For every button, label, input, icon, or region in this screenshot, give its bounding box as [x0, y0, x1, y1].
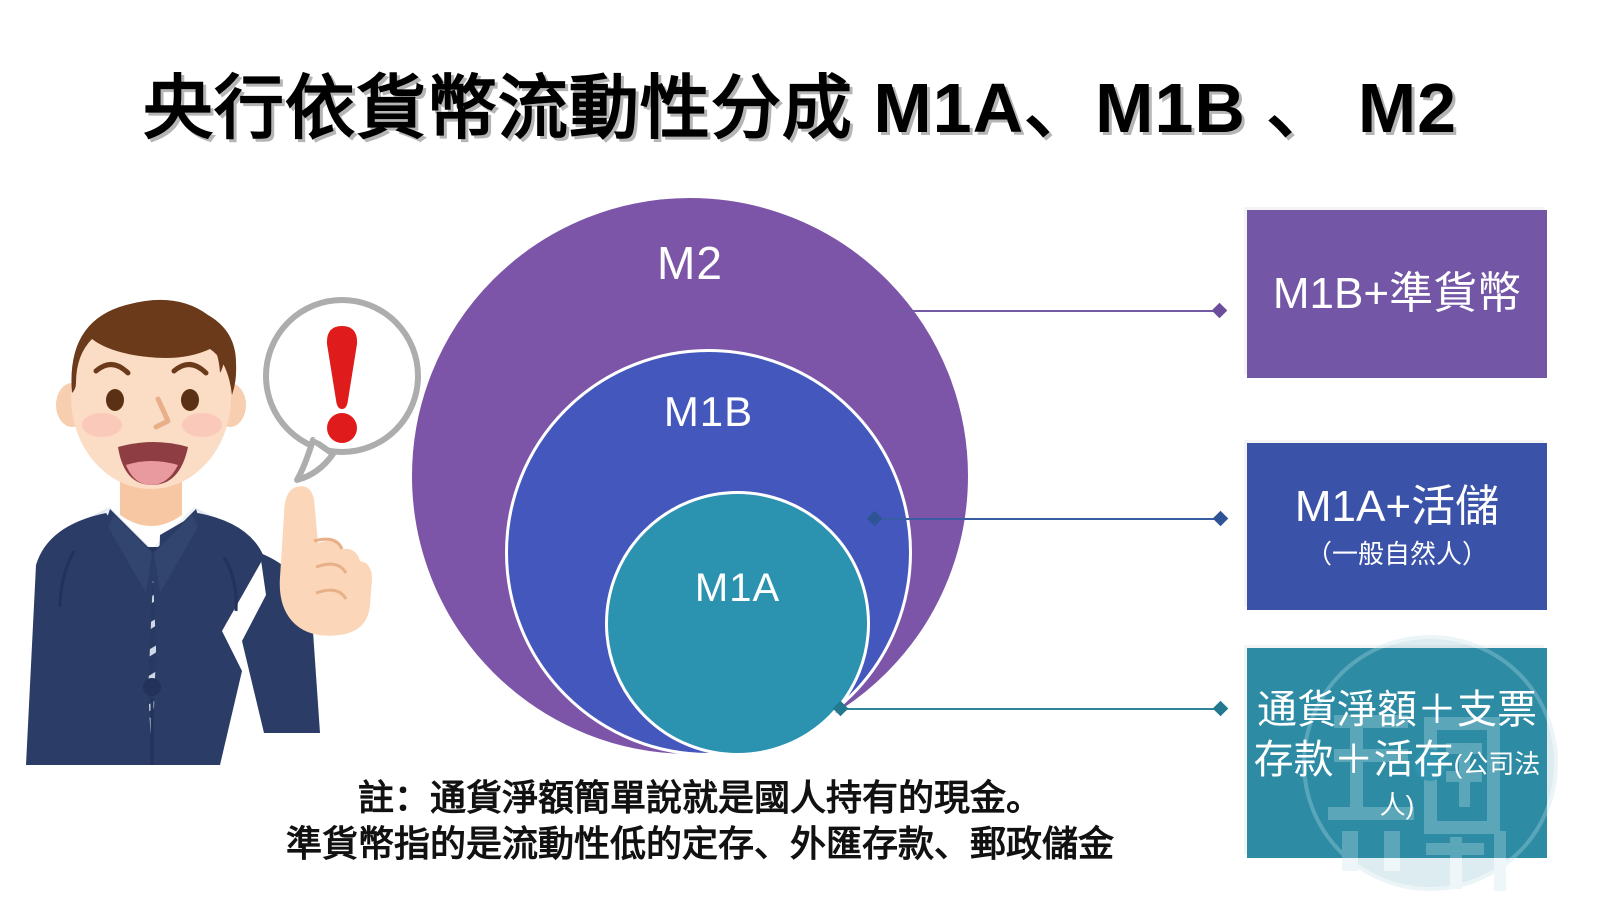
definition-box-m1b-sub: （一般自然人）: [1306, 534, 1488, 571]
connector-m1a: [838, 708, 1223, 710]
infographic-canvas: 央行依貨幣流動性分成 M1A、M1B 、 M2: [0, 0, 1600, 900]
speech-bubble: [255, 288, 430, 488]
venn-diagram: M2 M1B M1A: [410, 196, 990, 756]
circle-m1a[interactable]: M1A: [605, 491, 870, 756]
definition-box-m1b[interactable]: M1A+活儲 （一般自然人）: [1247, 443, 1547, 610]
circle-m2-label: M2: [412, 236, 968, 290]
caption-line-2: 準貨幣指的是流動性低的定存、外匯存款、郵政儲金: [0, 821, 1400, 867]
definition-box-m2-main: M1B+準貨幣: [1263, 269, 1531, 318]
circle-m1b-label: M1B: [508, 388, 909, 436]
page-title: 央行依貨幣流動性分成 M1A、M1B 、 M2: [0, 52, 1600, 153]
connector-endpoint-diamond: [1212, 303, 1228, 319]
definition-box-m1b-main: M1A+活儲: [1295, 482, 1499, 531]
caption: 註：通貨淨額簡單說就是國人持有的現金。 準貨幣指的是流動性低的定存、外匯存款、郵…: [0, 775, 1400, 867]
connector-m2: [893, 310, 1223, 312]
circle-m1a-label: M1A: [608, 566, 867, 611]
connector-m1b: [872, 518, 1223, 520]
definition-box-m2[interactable]: M1B+準貨幣: [1247, 210, 1547, 378]
connector-endpoint-diamond: [1213, 511, 1229, 527]
connector-endpoint-diamond: [1213, 701, 1229, 717]
caption-line-1: 註：通貨淨額簡單說就是國人持有的現金。: [358, 777, 1042, 818]
